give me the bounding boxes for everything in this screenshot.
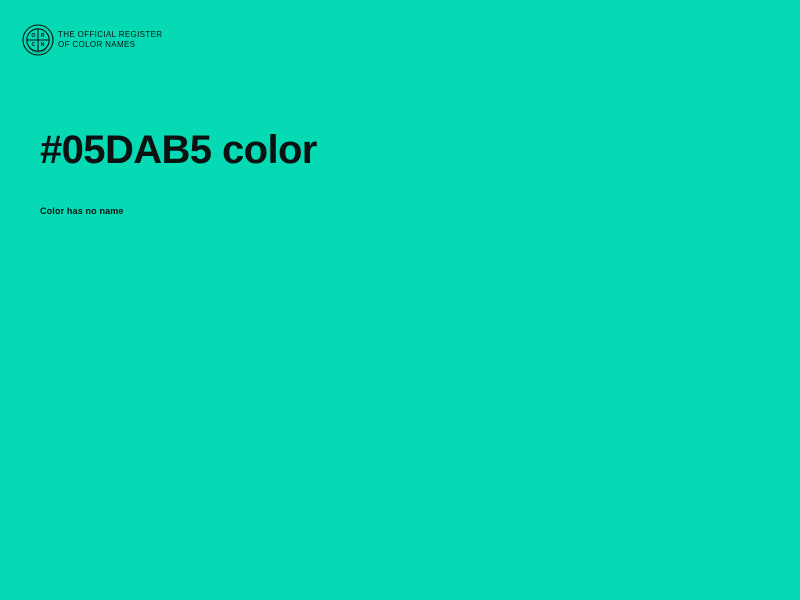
color-page: O R C N THE OFFICIAL REGISTER OF COLOR N… — [0, 0, 800, 600]
page-title: #05DAB5 color — [40, 126, 760, 174]
color-info-block: #05DAB5 color Color has no name — [40, 126, 760, 217]
svg-text:C: C — [32, 42, 36, 48]
color-name-status: Color has no name — [40, 174, 760, 217]
svg-text:O: O — [31, 33, 35, 39]
svg-text:R: R — [41, 33, 45, 39]
brand-wordmark-line-2: OF COLOR NAMES — [58, 40, 162, 50]
brand-wordmark-line-1: THE OFFICIAL REGISTER — [58, 30, 162, 40]
svg-text:N: N — [41, 42, 45, 48]
brand-wordmark: THE OFFICIAL REGISTER OF COLOR NAMES — [58, 30, 162, 50]
brand-lockup[interactable]: O R C N THE OFFICIAL REGISTER OF COLOR N… — [22, 24, 162, 56]
register-seal-icon: O R C N — [22, 24, 54, 56]
